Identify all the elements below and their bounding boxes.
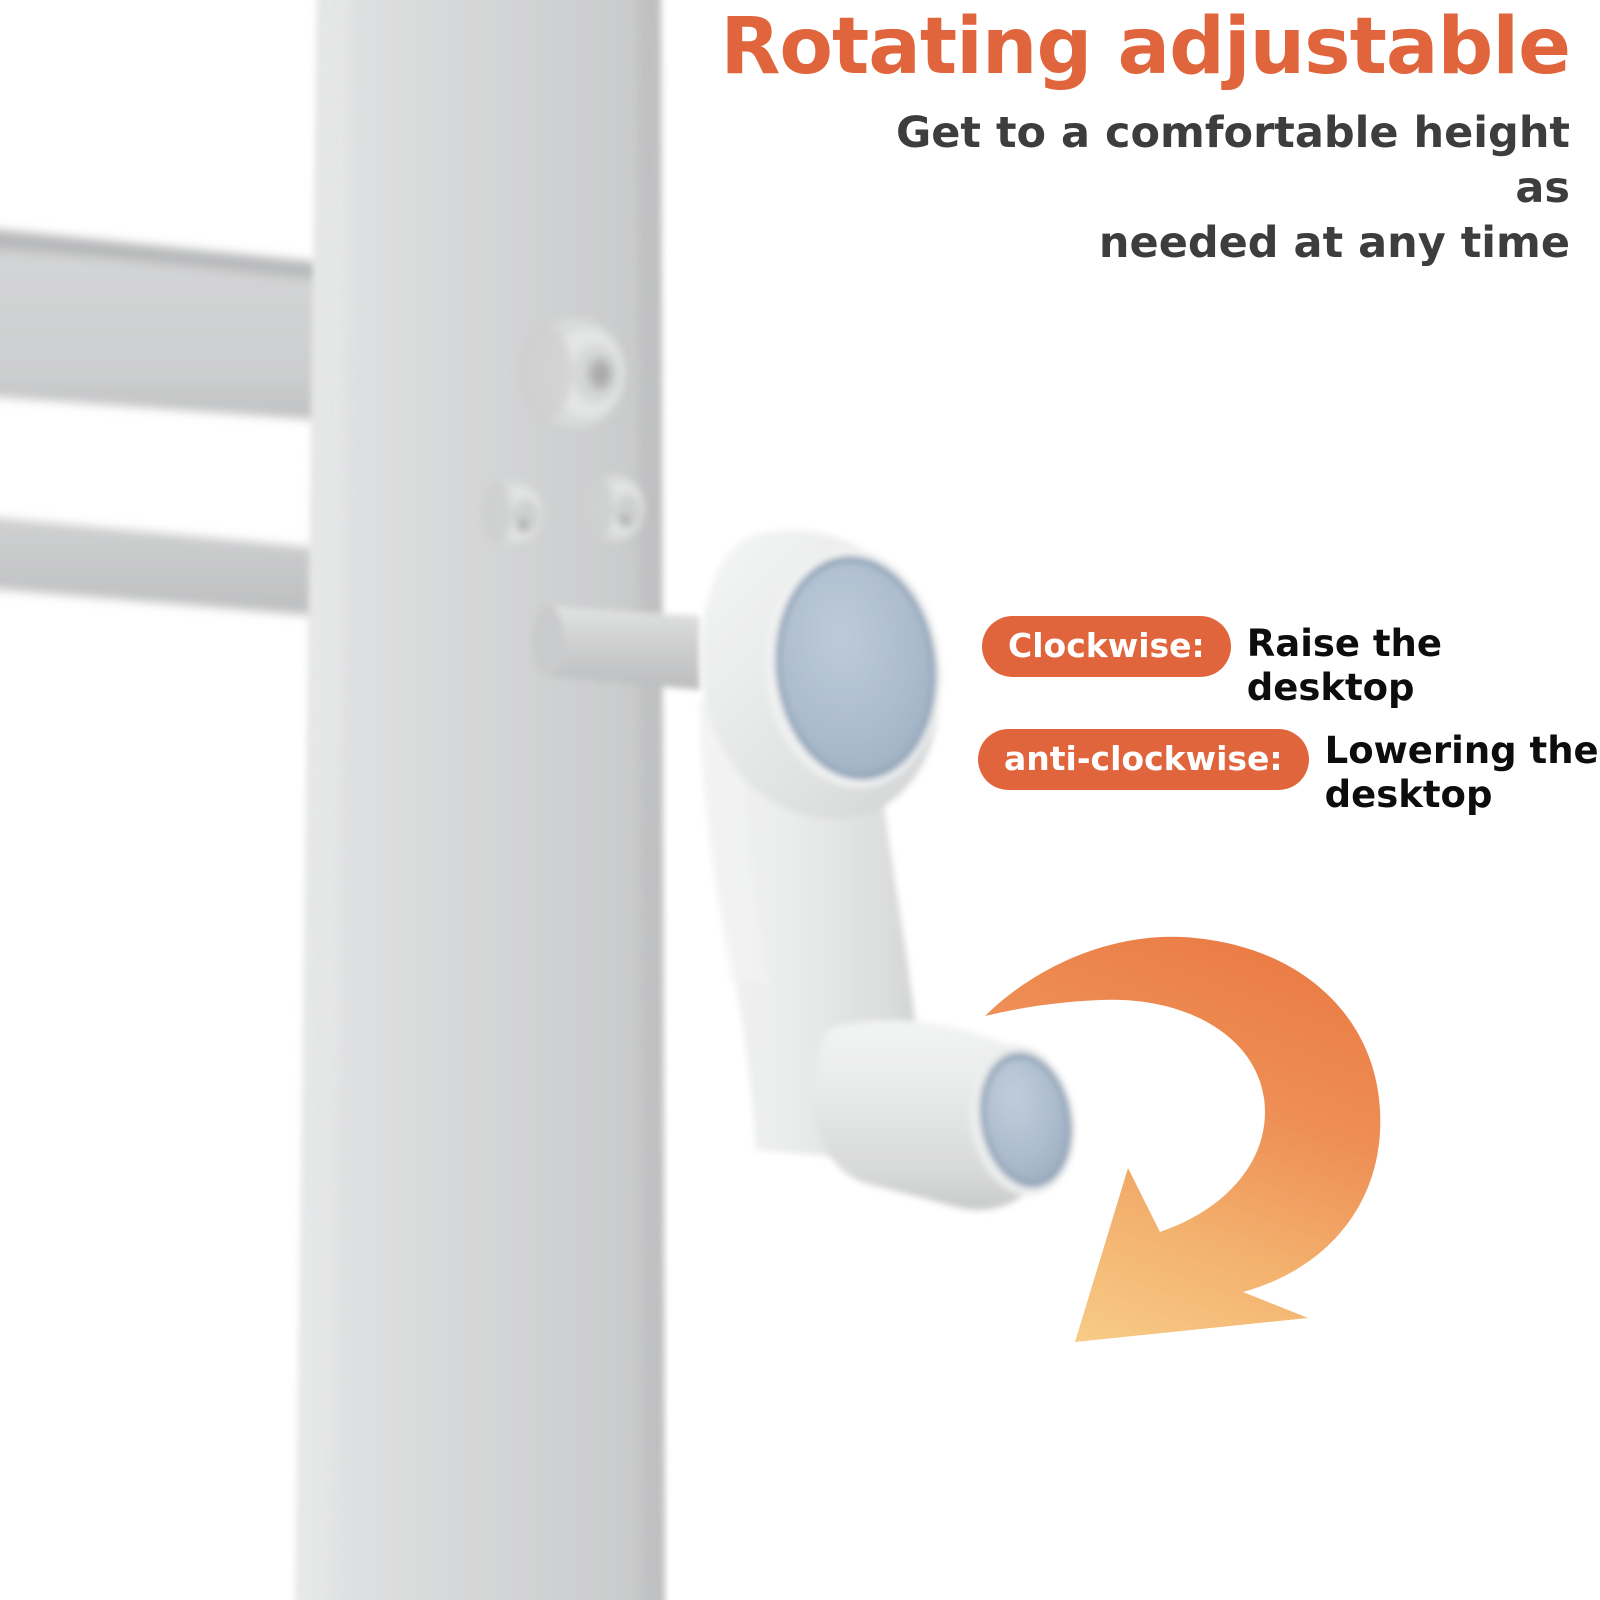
- desk-leg-post: [296, 0, 664, 1600]
- headline-block: Rotating adjustable Get to a comfortable…: [670, 8, 1570, 271]
- callout-clockwise-description: Raise the desktop: [1247, 616, 1600, 709]
- callout-clockwise: Clockwise: Raise the desktop: [982, 616, 1600, 709]
- callout-anti-clockwise-description: Lowering the desktop: [1325, 729, 1600, 816]
- badge-clockwise: Clockwise:: [982, 616, 1231, 677]
- badge-anti-clockwise: anti-clockwise:: [978, 729, 1309, 790]
- callout-anti-clockwise: anti-clockwise: Lowering the desktop: [978, 729, 1600, 816]
- product-feature-graphic: Rotating adjustable Get to a comfortable…: [0, 0, 1600, 1600]
- subtitle-line-1: Get to a comfortable height as: [896, 108, 1570, 213]
- crank-grip: [813, 1020, 1086, 1210]
- page-title: Rotating adjustable: [670, 8, 1570, 88]
- frame-beams: [0, 228, 320, 616]
- page-subtitle: Get to a comfortable height as needed at…: [670, 106, 1570, 271]
- subtitle-line-2: needed at any time: [1099, 218, 1570, 268]
